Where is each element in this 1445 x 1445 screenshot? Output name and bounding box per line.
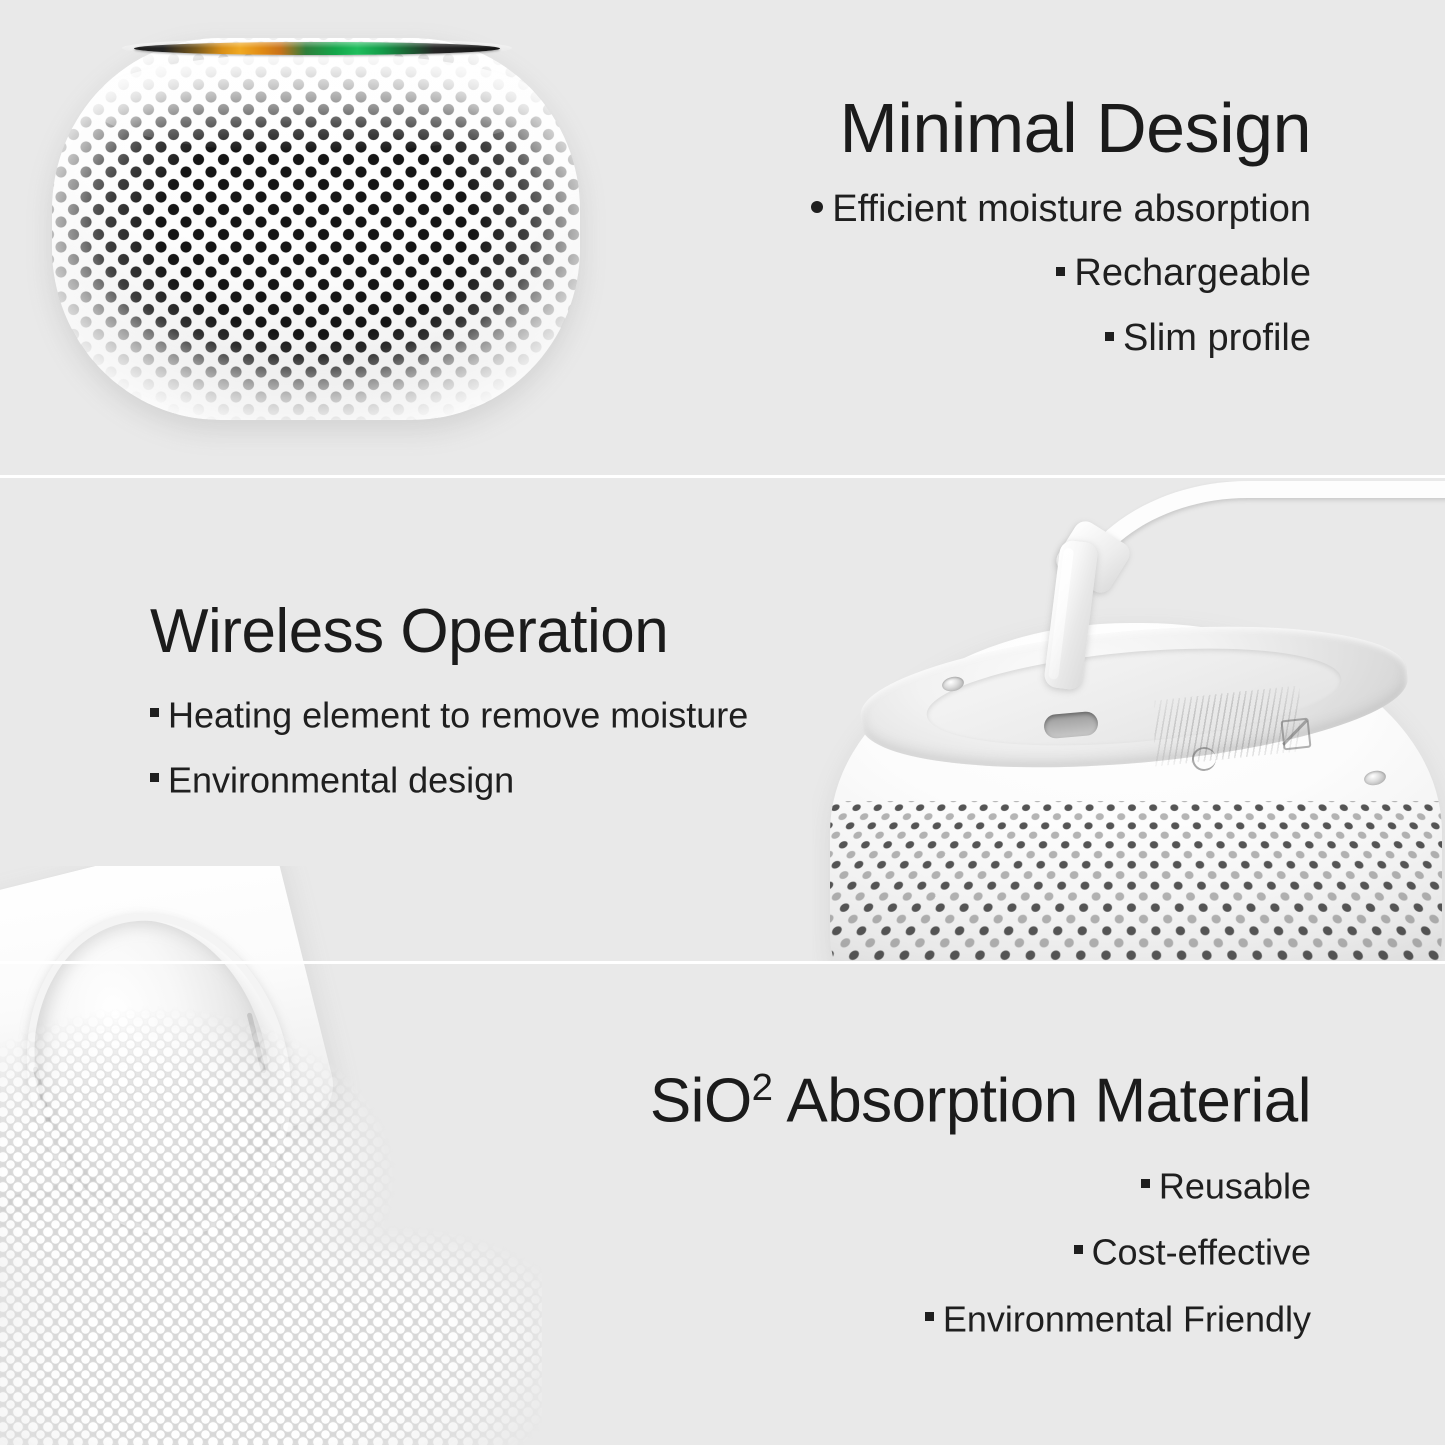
heading-suffix: Absorption Material — [773, 1067, 1311, 1136]
panel-heading-wireless-operation: Wireless Operation — [150, 600, 748, 664]
feature-list-minimal-design: Efficient moisture absorption Rechargeab… — [811, 177, 1311, 371]
perforation-layer-b — [830, 801, 1442, 963]
list-item-label: Rechargeable — [1074, 253, 1311, 295]
dehumidifier-charging-image — [812, 481, 1445, 963]
bullet-square-icon — [150, 708, 159, 717]
panel-divider — [0, 475, 1445, 478]
wireless-operation-text-block: Wireless Operation Heating element to re… — [150, 600, 748, 811]
list-item: Heating element to remove moisture — [150, 682, 748, 746]
panel-heading-minimal-design: Minimal Design — [811, 92, 1311, 165]
bullet-square-icon — [150, 773, 159, 782]
list-item-label: Environmental design — [168, 759, 514, 800]
weee-bin-icon — [1281, 718, 1312, 751]
feature-list-wireless-operation: Heating element to remove moisture Envir… — [150, 682, 748, 811]
bullet-square-icon — [1105, 332, 1114, 341]
list-item: Efficient moisture absorption — [811, 177, 1311, 242]
panel-minimal-design: Minimal Design Efficient moisture absorp… — [0, 0, 1445, 478]
list-item: Rechargeable — [811, 241, 1311, 306]
list-item: Cost-effective — [650, 1218, 1311, 1284]
heading-prefix: SiO — [650, 1067, 752, 1136]
list-item-label: Efficient moisture absorption — [832, 188, 1311, 230]
list-item-label: Cost-effective — [1092, 1232, 1311, 1273]
perforation-layer-b — [52, 38, 580, 420]
silica-gel-beads — [0, 866, 542, 1445]
list-item: Reusable — [650, 1152, 1311, 1218]
status-indicator-lens — [134, 42, 500, 55]
dehumidifier-body — [52, 38, 580, 420]
perforation-grid-angled — [830, 801, 1442, 963]
bullet-square-icon — [1056, 267, 1065, 276]
dehumidifier-front-image — [38, 18, 594, 418]
perforation-grid — [52, 38, 580, 420]
list-item: Environmental design — [150, 747, 748, 811]
bullet-square-icon — [925, 1312, 934, 1321]
sio2-material-text-block: SiO2 Absorption Material Reusable Cost-e… — [650, 1068, 1311, 1351]
silica-beads-image — [0, 866, 542, 1445]
feature-list-sio2-material: Reusable Cost-effective Environmental Fr… — [650, 1152, 1311, 1351]
panel-divider — [0, 961, 1445, 964]
list-item: Slim profile — [811, 306, 1311, 371]
panel-heading-sio2-material: SiO2 Absorption Material — [650, 1068, 1311, 1134]
bullet-round-icon — [811, 201, 823, 213]
minimal-design-text-block: Minimal Design Efficient moisture absorp… — [811, 92, 1311, 371]
bullet-square-icon — [1074, 1245, 1083, 1254]
bullet-square-icon — [1141, 1179, 1150, 1188]
list-item-label: Reusable — [1159, 1166, 1311, 1207]
list-item-label: Environmental Friendly — [943, 1298, 1311, 1339]
heading-superscript: 2 — [752, 1066, 773, 1109]
product-infographic: Minimal Design Efficient moisture absorp… — [0, 0, 1445, 1445]
list-item-label: Heating element to remove moisture — [168, 695, 748, 736]
list-item: Environmental Friendly — [650, 1285, 1311, 1351]
list-item-label: Slim profile — [1123, 317, 1311, 359]
